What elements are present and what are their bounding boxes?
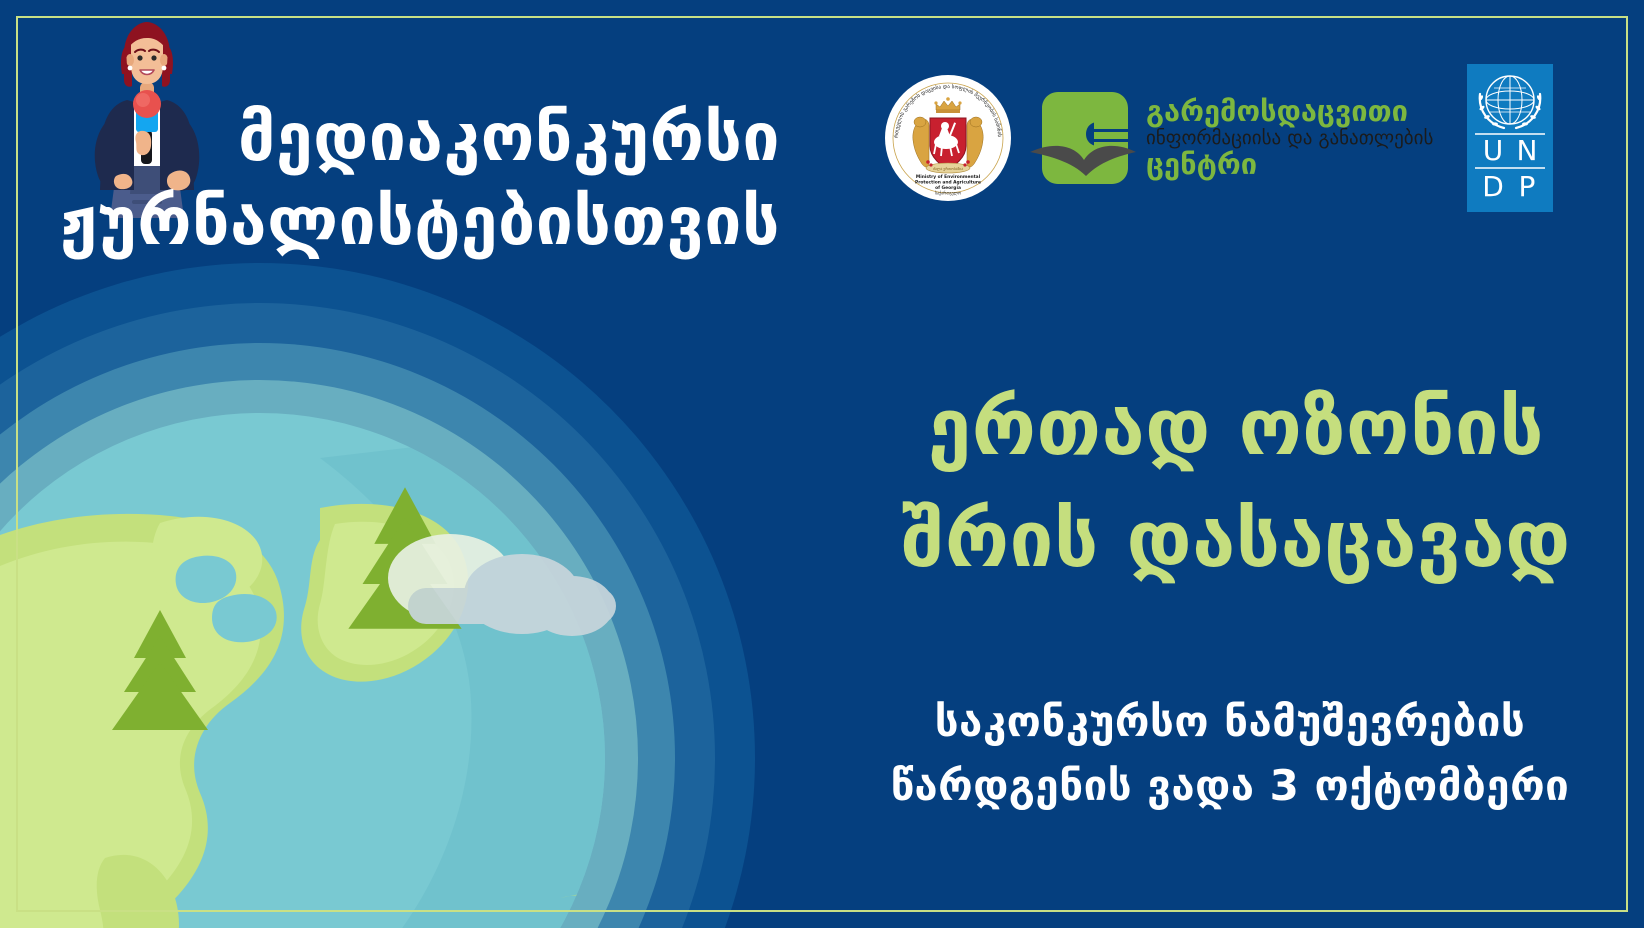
eiec-text-line-3: ცენტრი bbox=[1146, 150, 1433, 179]
title-line-2: ჟურნალისტებისთვის bbox=[52, 180, 832, 264]
eiec-text-line-1: გარემოსდაცვითი bbox=[1146, 97, 1433, 126]
undp-letter-p: P bbox=[1519, 170, 1536, 203]
undp-letter-u: U bbox=[1483, 134, 1504, 167]
deadline-line-2: წარდგენის ვადა 3 ოქტომბერი bbox=[860, 754, 1600, 818]
undp-letter-n: N bbox=[1517, 134, 1538, 167]
headline-line-1: ერთად ოზონის bbox=[876, 372, 1596, 484]
headline-line-2: შრის დასაცავად bbox=[876, 484, 1596, 596]
globe-illustration bbox=[0, 258, 760, 928]
eiec-logo-text: გარემოსდაცვითი ინფორმაციისა და განათლები… bbox=[1146, 97, 1433, 179]
eiec-text-line-2: ინფორმაციისა და განათლების bbox=[1146, 129, 1433, 148]
eiec-logo: გარემოსდაცვითი ინფორმაციისა და განათლები… bbox=[1028, 82, 1433, 194]
svg-text:ძალა ერთობაშია: ძალა ერთობაშია bbox=[933, 167, 963, 171]
undp-logo: U N D P bbox=[1467, 64, 1553, 212]
poster-canvas: მედიაკონკურსი ჟურნალისტებისთვის საქართვე… bbox=[0, 0, 1644, 928]
title-line-1: მედიაკონკურსი bbox=[52, 96, 832, 180]
ministry-emblem-logo: საქართველოს გარემოს დაცვისა და სოფლის მე… bbox=[884, 74, 1012, 202]
submission-deadline: საკონკურსო ნამუშევრების წარდგენის ვადა 3… bbox=[860, 690, 1600, 818]
poster-title: მედიაკონკურსი ჟურნალისტებისთვის bbox=[52, 96, 832, 265]
eiec-logo-mark bbox=[1028, 82, 1140, 194]
svg-text:Protection and Agriculture: Protection and Agriculture bbox=[915, 180, 981, 186]
logo-row: საქართველოს გარემოს დაცვისა და სოფლის მე… bbox=[884, 58, 1524, 218]
svg-text:საქართველო: საქართველო bbox=[935, 191, 961, 196]
campaign-headline: ერთად ოზონის შრის დასაცავად bbox=[876, 372, 1596, 597]
svg-text:Ministry of Environmental: Ministry of Environmental bbox=[916, 174, 981, 180]
deadline-line-1: საკონკურსო ნამუშევრების bbox=[860, 690, 1600, 754]
undp-letter-d: D bbox=[1483, 170, 1505, 203]
